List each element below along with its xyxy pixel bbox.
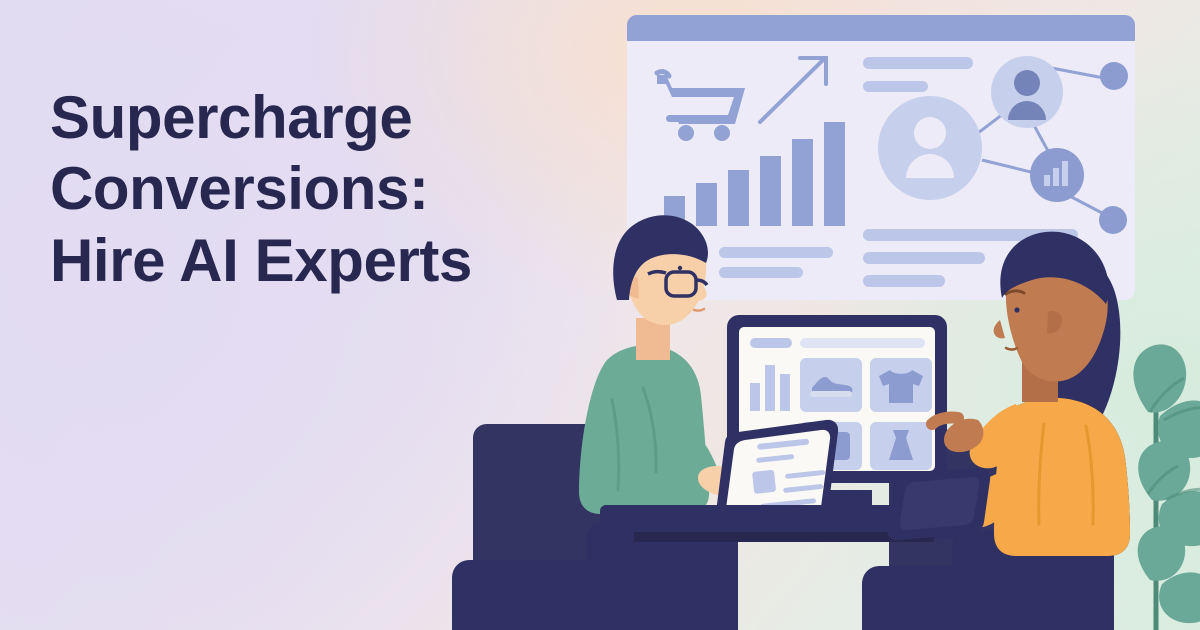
handheld-tablet — [887, 468, 990, 540]
illustration — [0, 0, 1200, 630]
promo-banner: Supercharge Conversions: Hire AI Experts — [0, 0, 1200, 630]
dot-node-top — [1100, 62, 1128, 90]
product-card-shoe — [800, 358, 862, 412]
search-bar — [750, 338, 792, 348]
dot-node-bottom — [1099, 206, 1127, 234]
potted-plant-leaves — [1133, 344, 1200, 630]
product-card-dress — [870, 422, 932, 470]
product-card-tshirt — [870, 358, 932, 412]
